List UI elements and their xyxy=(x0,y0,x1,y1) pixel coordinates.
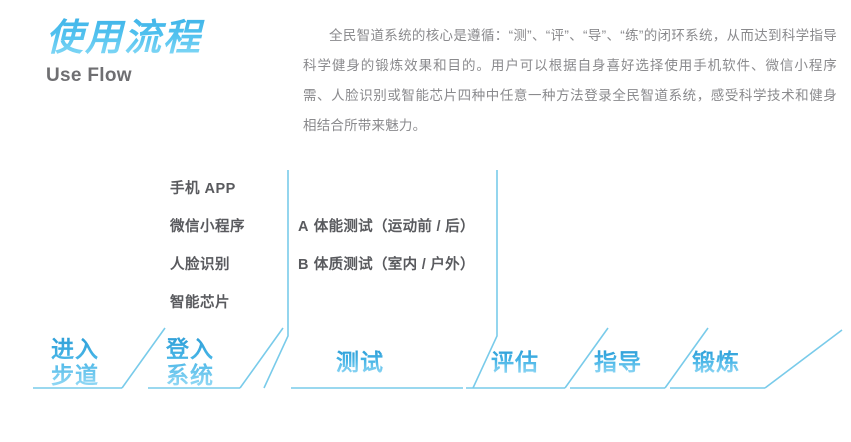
flow-stage-label-1[interactable]: 登入 系统 xyxy=(157,337,223,389)
intro-paragraph: 全民智道系统的核心是遵循：“测”、“评”、“导”、“练”的闭环系统，从而达到科学… xyxy=(303,21,837,141)
list-item-label: 体质测试（室内 / 户外） xyxy=(314,257,475,273)
title-group: 使用流程 Use Flow xyxy=(46,16,286,87)
login-methods-list: 手机 APP 微信小程序 人脸识别 智能芯片 xyxy=(170,170,270,322)
flow-stage-label-5[interactable]: 锻炼 xyxy=(681,350,751,376)
flow-stage-label-0[interactable]: 进入 步道 xyxy=(42,337,108,389)
list-item-label: 体能测试（运动前 / 后） xyxy=(314,219,475,235)
list-item: 手机 APP xyxy=(170,170,270,208)
list-item: A体能测试（运动前 / 后） xyxy=(298,208,498,246)
flow-stage-label-4[interactable]: 指导 xyxy=(583,350,653,376)
list-item: 人脸识别 xyxy=(170,246,270,284)
middle-block: 手机 APP 微信小程序 人脸识别 智能芯片 A体能测试（运动前 / 后） B体… xyxy=(0,150,851,340)
list-item: B体质测试（室内 / 户外） xyxy=(298,246,498,284)
test-types-list: A体能测试（运动前 / 后） B体质测试（室内 / 户外） xyxy=(298,208,498,284)
list-item: 智能芯片 xyxy=(170,284,270,322)
flow-stage-label-3[interactable]: 评估 xyxy=(480,350,550,376)
flow-stage-label-2[interactable]: 测试 xyxy=(325,350,395,376)
header-block: 使用流程 Use Flow 全民智道系统的核心是遵循：“测”、“评”、“导”、“… xyxy=(0,0,851,150)
page-title-cn: 使用流程 xyxy=(46,16,286,60)
list-item-key: A xyxy=(298,219,309,235)
list-item: 微信小程序 xyxy=(170,208,270,246)
page-title-en: Use Flow xyxy=(46,65,286,87)
list-item-key: B xyxy=(298,257,309,273)
